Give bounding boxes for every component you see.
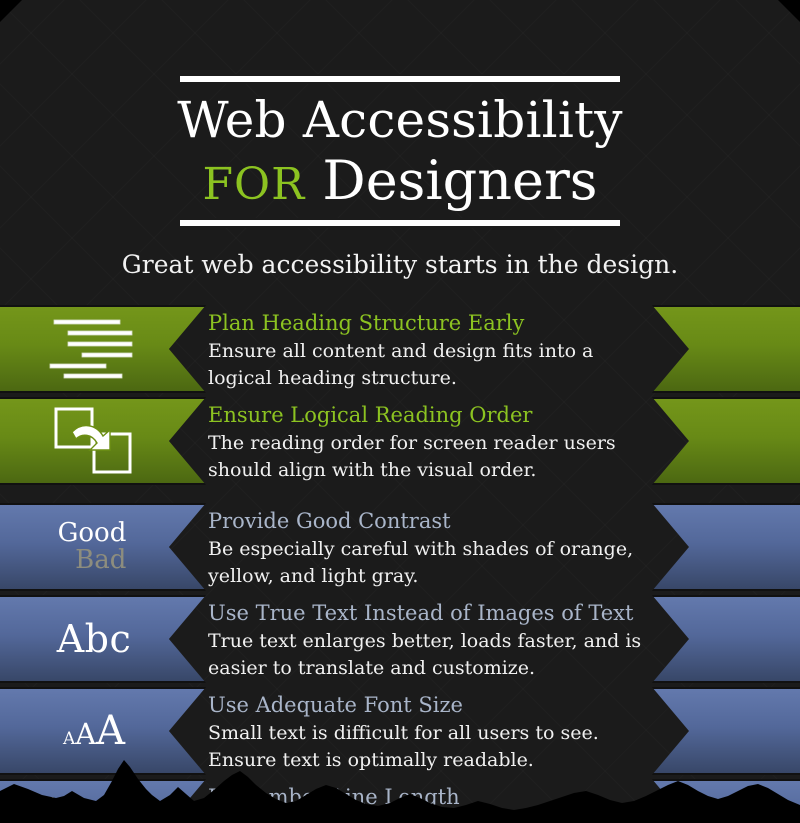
tip-band-right [652,595,800,683]
abc-label: Abc [57,617,132,661]
page-title-for-word: FOR [203,159,306,210]
contrast-good-label: Good [58,520,127,547]
tip-band-left [0,397,206,485]
tip-heading: Use True Text Instead of Images of Text [208,600,648,627]
tip-heading: Remember Line Length [208,784,648,811]
tip-band-right [652,503,800,591]
tip-body-line: Ensure all content and design fits into … [208,338,648,365]
tip-band-left: Good Bad [0,503,206,591]
tip-body-line: yellow, and light gray. [208,563,648,590]
tip-band-right [652,305,800,393]
list-item: Abc Use True Text Instead of Images of T… [0,595,800,683]
page-title-designers-word: Designers [322,149,597,212]
tip-band-left [0,305,206,393]
tip-text: Remember Line Length Don't make lines to… [208,784,648,823]
tip-body-line: Be especially careful with shades of ora… [208,536,648,563]
tip-text: Provide Good Contrast Be especially care… [208,508,648,590]
contrast-bad-label: Bad [58,547,127,574]
tip-body: Small text is difficult for all users to… [208,720,648,774]
tip-band-left: A A A [0,687,206,775]
tip-body: Ensure all content and design fits into … [208,338,648,392]
tip-band-right [652,397,800,485]
list-item: Plan Heading Structure Early Ensure all … [0,305,800,393]
tip-heading: Use Adequate Font Size [208,692,648,719]
list-item: Good Bad Provide Good Contrast Be especi… [0,503,800,591]
font-size-medium-a: A [75,717,96,751]
page-title-line-1: Web Accessibility [0,90,800,150]
list-item: abcdefg Remember Line Length Don't make … [0,779,800,823]
tip-text: Plan Heading Structure Early Ensure all … [208,310,648,392]
tip-band-right [652,779,800,823]
line-length-measure-icon: abcdefg [32,787,156,823]
tip-text: Use True Text Instead of Images of Text … [208,600,648,682]
tip-heading: Provide Good Contrast [208,508,648,535]
tip-heading: Plan Heading Structure Early [208,310,648,337]
tip-body-line: Don't make lines too long or too short. [208,812,648,823]
list-item: A A A Use Adequate Font Size Small text … [0,687,800,775]
list-item: Ensure Logical Reading Order The reading… [0,397,800,485]
good-bad-contrast-icon: Good Bad [32,511,156,583]
tip-heading: Ensure Logical Reading Order [208,402,648,429]
tip-body: Don't make lines too long or too short. [208,812,648,823]
tip-text: Ensure Logical Reading Order The reading… [208,402,648,484]
tip-body: The reading order for screen reader user… [208,430,648,484]
tip-body: True text enlarges better, loads faster,… [208,628,648,682]
tip-body-line: Small text is difficult for all users to… [208,720,648,747]
font-size-small-a: A [63,729,75,749]
font-size-large-a: A [96,708,125,754]
tip-body-line: Ensure text is optimally readable. [208,747,648,774]
heading-lines-icon [32,313,156,385]
infographic-poster: Web Accessibility FOR Designers Great we… [0,0,800,823]
tip-body: Be especially careful with shades of ora… [208,536,648,590]
tip-body-line: The reading order for screen reader user… [208,430,648,457]
tips-list: Plan Heading Structure Early Ensure all … [0,305,800,823]
abc-text-icon: Abc [32,603,156,675]
title-rule-bottom [180,218,620,228]
tip-body-line: logical heading structure. [208,365,648,392]
tip-body-line: easier to translate and customize. [208,655,648,682]
tip-text: Use Adequate Font Size Small text is dif… [208,692,648,774]
tip-body-line: True text enlarges better, loads faster,… [208,628,648,655]
tip-band-left: Abc [0,595,206,683]
tip-body-line: should align with the visual order. [208,457,648,484]
reading-order-arrow-icon [32,405,156,477]
poster-header: Web Accessibility FOR Designers Great we… [0,0,800,279]
tip-band-left: abcdefg [0,779,206,823]
title-rule-top [180,74,620,84]
tip-band-right [652,687,800,775]
page-title-line-2: FOR Designers [0,150,800,216]
font-size-aaa-icon: A A A [32,695,156,767]
page-subtitle: Great web accessibility starts in the de… [0,250,800,279]
